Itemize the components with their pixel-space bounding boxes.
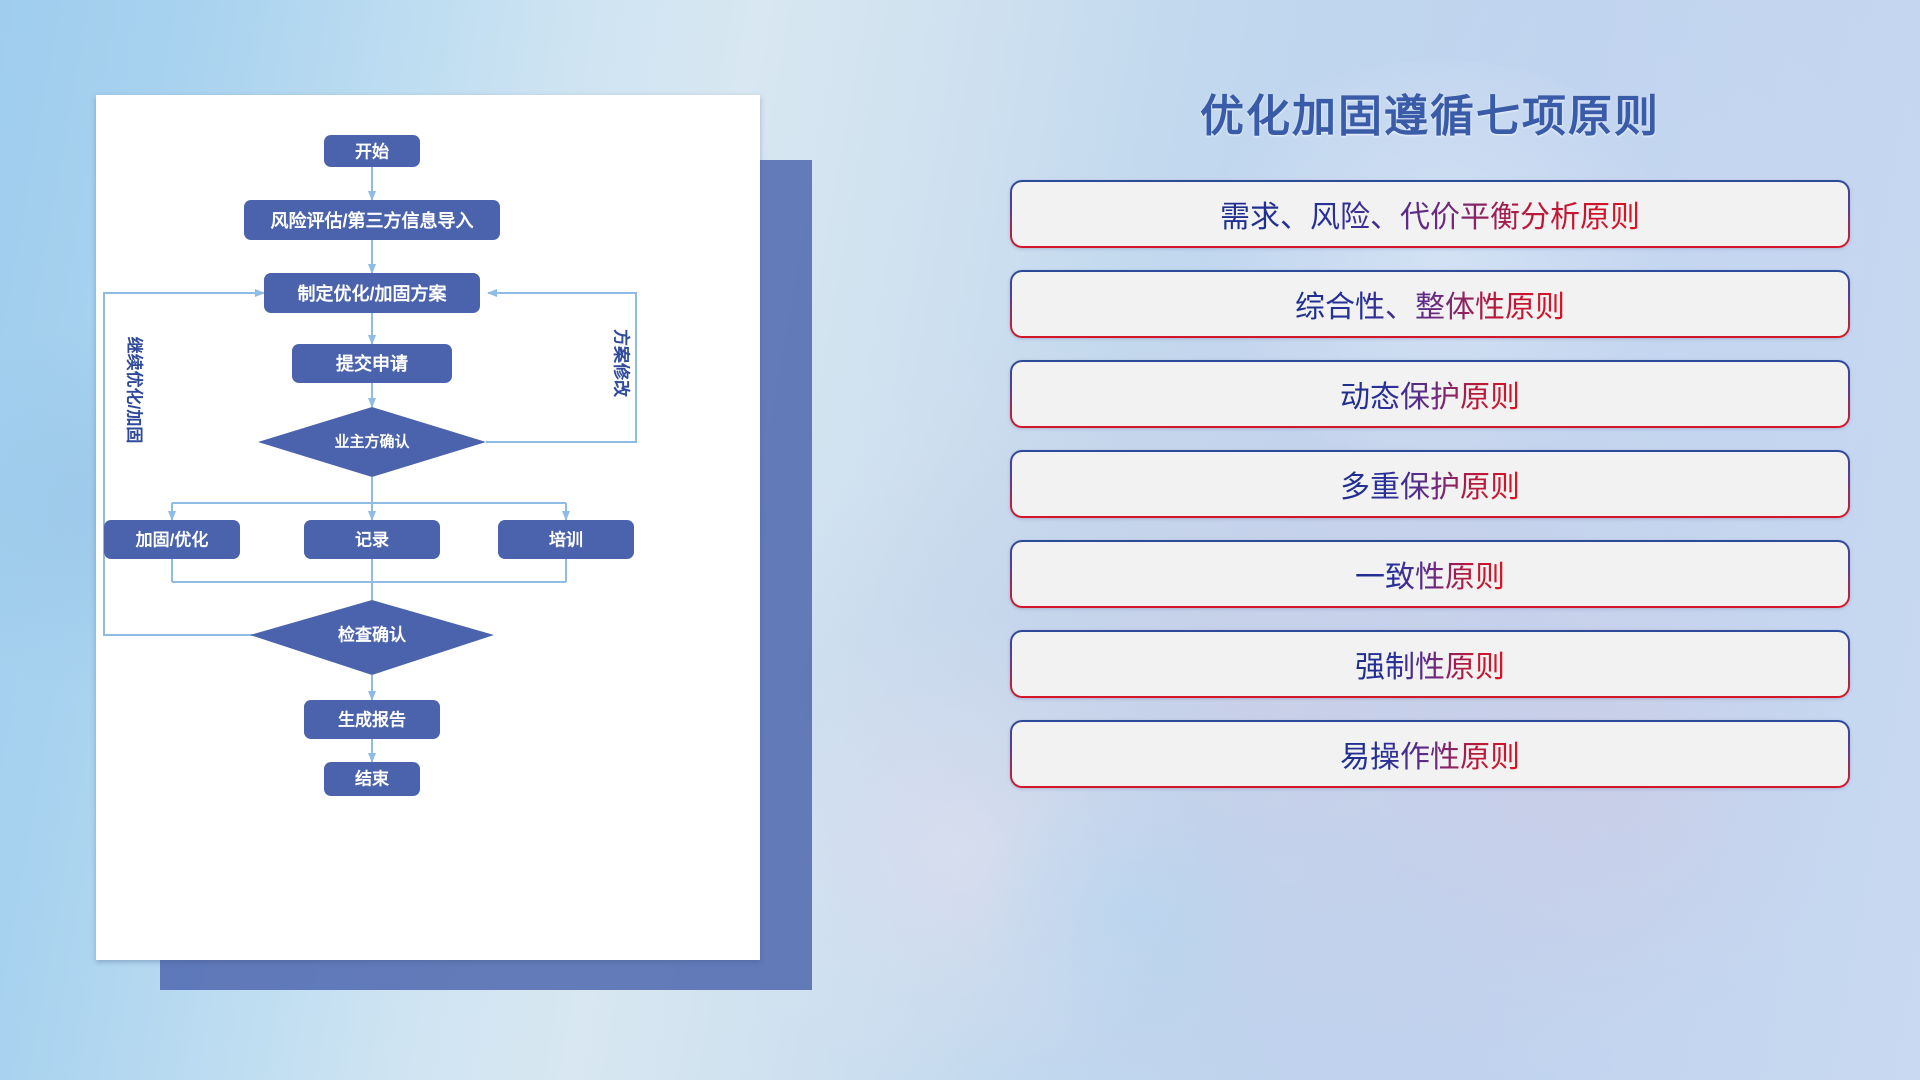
principle-card-inner: 易操作性原则 — [1012, 722, 1848, 786]
principle-label: 多重保护原则 — [1340, 462, 1520, 506]
flow-node-risk-assessment-label: 风险评估/第三方信息导入 — [271, 210, 474, 231]
principle-card-inner: 动态保护原则 — [1012, 362, 1848, 426]
flow-node-check-confirm[interactable]: 检查确认 — [250, 600, 494, 675]
flow-node-start[interactable]: 开始 — [324, 135, 420, 167]
principle-label: 强制性原则 — [1355, 642, 1505, 686]
principle-card-inner: 一致性原则 — [1012, 542, 1848, 606]
flow-edge-label-continue-optimize: 继续优化/加固 — [125, 337, 145, 444]
principle-label: 易操作性原则 — [1340, 732, 1520, 776]
flow-node-plan[interactable]: 制定优化/加固方案 — [264, 273, 480, 313]
flow-node-training-label: 培训 — [549, 530, 583, 550]
flowchart-card: 开始 风险评估/第三方信息导入 制定优化/加固方案 提交申请 业主方确认 — [96, 95, 760, 960]
principle-card[interactable]: 一致性原则 — [1010, 540, 1850, 608]
panel-title: 优化加固遵循七项原则 — [1010, 80, 1850, 144]
principle-card[interactable]: 易操作性原则 — [1010, 720, 1850, 788]
flow-node-record-label: 记录 — [355, 531, 389, 550]
flow-node-report-label: 生成报告 — [338, 710, 406, 730]
principle-card[interactable]: 强制性原则 — [1010, 630, 1850, 698]
principle-card-inner: 多重保护原则 — [1012, 452, 1848, 516]
principle-label: 动态保护原则 — [1340, 372, 1520, 416]
principle-card[interactable]: 综合性、整体性原则 — [1010, 270, 1850, 338]
flowchart-diagram: 开始 风险评估/第三方信息导入 制定优化/加固方案 提交申请 业主方确认 — [96, 95, 760, 960]
flow-node-record[interactable]: 记录 — [304, 520, 440, 559]
flow-node-plan-label: 制定优化/加固方案 — [297, 283, 447, 304]
flow-node-reinforce-label: 加固/优化 — [135, 530, 209, 550]
principle-card-inner: 综合性、整体性原则 — [1012, 272, 1848, 336]
flow-node-report[interactable]: 生成报告 — [304, 700, 440, 739]
principle-card-inner: 强制性原则 — [1012, 632, 1848, 696]
flow-edge-label-plan-revision: 方案修改 — [612, 329, 632, 398]
flow-node-reinforce[interactable]: 加固/优化 — [104, 520, 240, 559]
flow-node-risk-assessment[interactable]: 风险评估/第三方信息导入 — [244, 200, 500, 240]
principle-card[interactable]: 多重保护原则 — [1010, 450, 1850, 518]
flow-node-end[interactable]: 结束 — [324, 762, 420, 796]
slide-canvas: 开始 风险评估/第三方信息导入 制定优化/加固方案 提交申请 业主方确认 — [0, 0, 1920, 1080]
principles-panel: 优化加固遵循七项原则 需求、风险、代价平衡分析原则 综合性、整体性原则 动态保护… — [1010, 80, 1850, 1020]
flow-node-training[interactable]: 培训 — [498, 520, 634, 559]
principle-label: 需求、风险、代价平衡分析原则 — [1220, 192, 1640, 236]
flow-node-owner-confirm[interactable]: 业主方确认 — [258, 407, 486, 477]
principle-label: 一致性原则 — [1355, 552, 1505, 596]
principle-label: 综合性、整体性原则 — [1295, 282, 1565, 326]
principle-card-inner: 需求、风险、代价平衡分析原则 — [1012, 182, 1848, 246]
flow-node-submit-label: 提交申请 — [336, 353, 408, 374]
flow-node-check-confirm-label: 检查确认 — [338, 625, 407, 645]
flow-node-submit[interactable]: 提交申请 — [292, 344, 452, 383]
principle-list: 需求、风险、代价平衡分析原则 综合性、整体性原则 动态保护原则 多重保护原则 — [1010, 180, 1850, 788]
principle-card[interactable]: 动态保护原则 — [1010, 360, 1850, 428]
flow-node-end-label: 结束 — [355, 769, 389, 789]
principle-card[interactable]: 需求、风险、代价平衡分析原则 — [1010, 180, 1850, 248]
flow-node-start-label: 开始 — [355, 142, 389, 162]
flow-node-owner-confirm-label: 业主方确认 — [334, 433, 410, 451]
